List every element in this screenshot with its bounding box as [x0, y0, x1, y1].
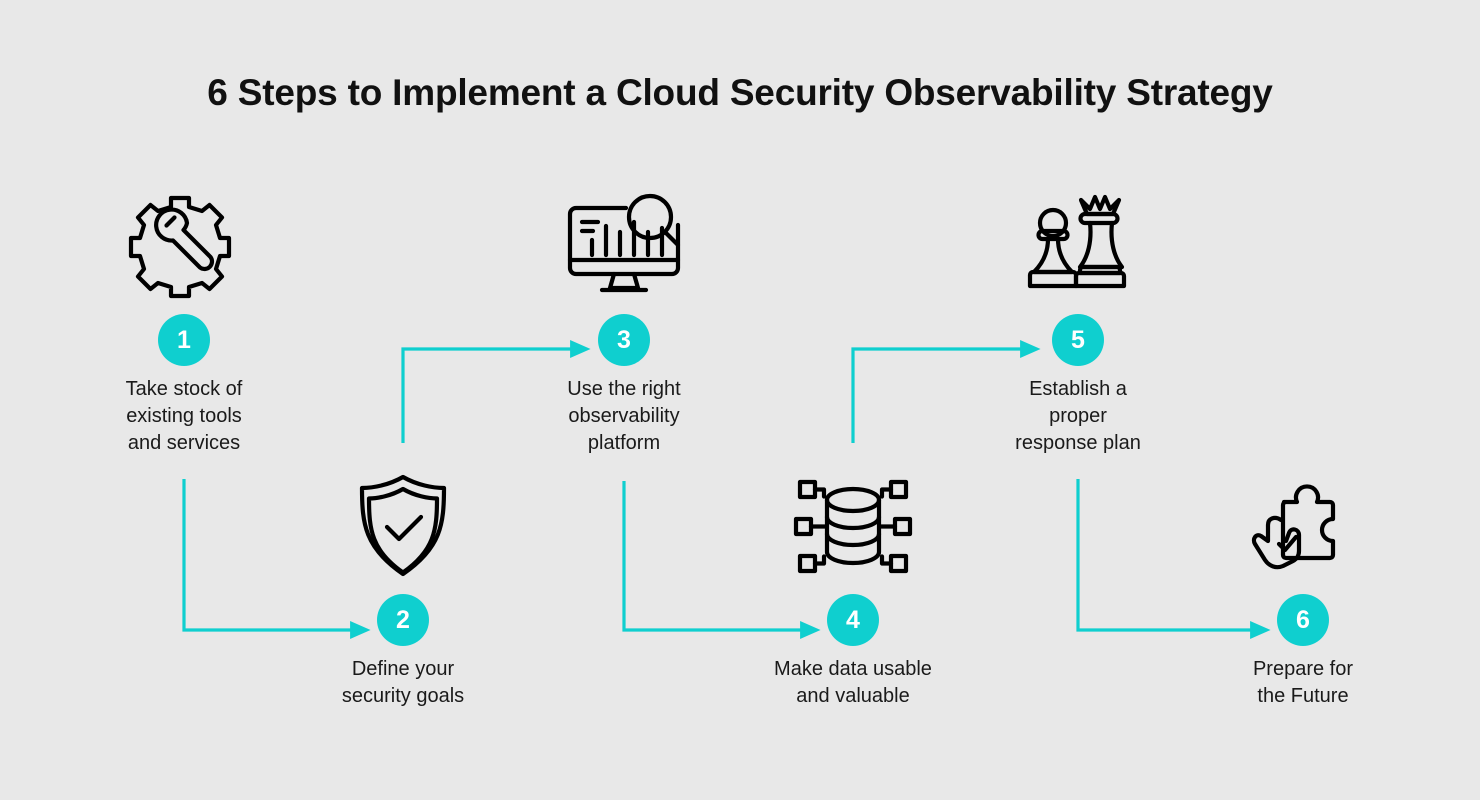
shield-check-icon: [288, 462, 518, 582]
monitor-analytics-magnifier-icon: [509, 182, 739, 302]
step-5[interactable]: 5 Establish a proper response plan: [963, 182, 1193, 457]
step-label: Make data usable and valuable: [738, 656, 968, 710]
step-label: Establish a proper response plan: [963, 376, 1193, 457]
puzzle-hand-icon: [1188, 462, 1418, 582]
step-number-badge: 3: [598, 314, 650, 366]
step-label: Define your security goals: [288, 656, 518, 710]
step-label: Prepare for the Future: [1188, 656, 1418, 710]
step-label: Take stock of existing tools and service…: [69, 376, 299, 457]
step-label: Use the right observability platform: [509, 376, 739, 457]
step-number-badge: 4: [827, 594, 879, 646]
step-2[interactable]: 2 Define your security goals: [288, 462, 518, 710]
chess-pieces-icon: [963, 182, 1193, 302]
step-number-badge: 2: [377, 594, 429, 646]
page-title: 6 Steps to Implement a Cloud Security Ob…: [0, 72, 1480, 114]
step-number-badge: 1: [158, 314, 210, 366]
step-3[interactable]: 3 Use the right observability platform: [509, 182, 739, 457]
database-network-icon: [738, 462, 968, 582]
step-1[interactable]: 1 Take stock of existing tools and servi…: [69, 182, 299, 457]
step-4[interactable]: 4 Make data usable and valuable: [738, 462, 968, 710]
step-6[interactable]: 6 Prepare for the Future: [1188, 462, 1418, 710]
step-number-badge: 5: [1052, 314, 1104, 366]
step-number-badge: 6: [1277, 594, 1329, 646]
gear-wrench-icon: [69, 182, 299, 302]
infographic-canvas: 6 Steps to Implement a Cloud Security Ob…: [0, 0, 1480, 800]
